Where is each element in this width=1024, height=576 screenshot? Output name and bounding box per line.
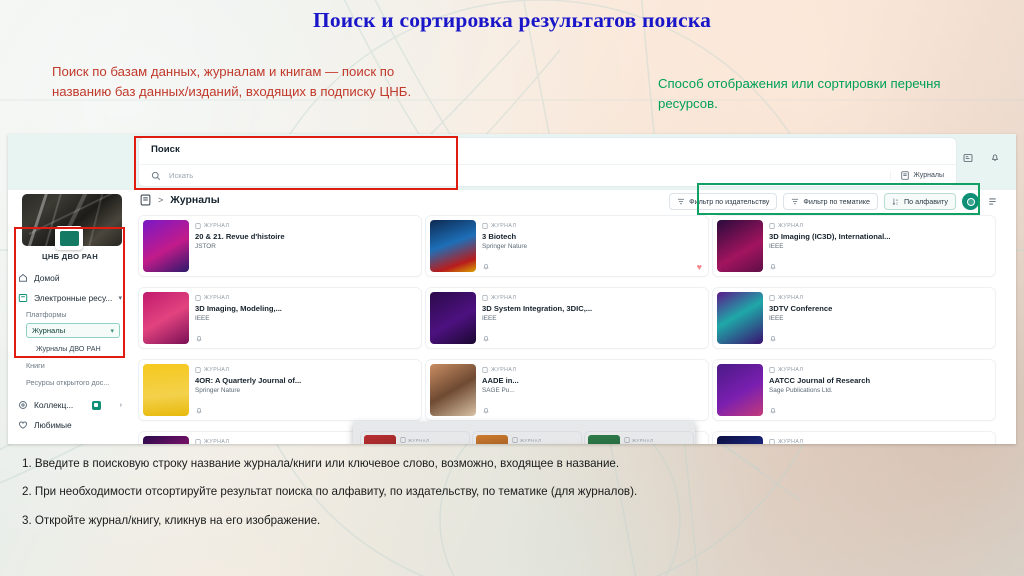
heart-outline-icon	[18, 420, 28, 430]
filter-by-subject-button[interactable]: Фильтр по тематике	[783, 193, 878, 210]
chevron-down-icon: ▾	[118, 294, 122, 302]
journal-title: AADE in...	[482, 376, 704, 385]
journal-cover-image[interactable]	[143, 436, 189, 444]
card-kind: ЖУРНАЛ	[769, 295, 991, 301]
journal-cover-image[interactable]	[717, 436, 763, 444]
search-icon	[151, 171, 161, 181]
journal-icon	[195, 367, 201, 373]
journal-title: AATCC Journal of Research	[769, 376, 991, 385]
card-kind: ЖУРНАЛ	[482, 223, 704, 229]
card-kind: ЖУРНАЛ	[195, 223, 417, 229]
journal-publisher: IEEE	[195, 315, 417, 323]
sort-alphabetical-button[interactable]: AZ По алфавиту	[884, 193, 956, 210]
app-topbar: Поиск Искать Журналы	[8, 134, 1016, 190]
bell-icon[interactable]	[482, 262, 490, 271]
journal-card[interactable]: ЖУРНАЛ4OR: A Quarterly Journal of...Spri…	[139, 360, 421, 420]
callout-left: Поиск по базам данных, журналам и книгам…	[52, 62, 432, 103]
journal-cover-image[interactable]	[430, 292, 476, 344]
filter-icon	[677, 197, 685, 206]
app-screenshot: Поиск Искать Журналы	[8, 134, 1016, 444]
journal-icon	[482, 295, 488, 301]
journal-card-grid: ЖУРНАЛ20 & 21. Revue d'histoireJSTORЖУРН…	[139, 216, 1008, 444]
journal-icon	[769, 439, 775, 444]
app-sidebar: ЦНБ ДВО РАН Домой Электронные ресу... ▾ …	[8, 190, 132, 444]
journal-publisher: IEEE	[482, 315, 704, 323]
card-kind: ЖУРНАЛ	[769, 439, 991, 444]
filter-by-publisher-button[interactable]: Фильтр по издательству	[669, 193, 777, 210]
bell-icon[interactable]	[482, 334, 490, 343]
breadcrumb: > Журналы	[140, 194, 220, 206]
journal-cover-image[interactable]	[430, 364, 476, 416]
journal-icon[interactable]	[140, 194, 151, 206]
journal-cover-image[interactable]	[717, 364, 763, 416]
step-3: 3. Откройте журнал/книгу, кликнув на его…	[22, 513, 722, 529]
journal-icon	[195, 439, 201, 444]
journal-title: 3D Imaging (IC3D), International...	[769, 232, 991, 241]
grid-view-toggle[interactable]	[962, 193, 979, 210]
sidebar-group-books[interactable]: Книги	[8, 359, 132, 372]
journal-title: 3 Biotech	[482, 232, 704, 241]
journal-title: 3D Imaging, Modeling,...	[195, 304, 417, 313]
journal-title: 4OR: A Quarterly Journal of...	[195, 376, 417, 385]
modal-overlay	[353, 422, 695, 444]
journal-card[interactable]: ЖУРНАЛ3D System Integration, 3DIC,...IEE…	[426, 288, 708, 348]
journal-cover-image[interactable]	[717, 292, 763, 344]
list-view-toggle[interactable]	[985, 194, 1000, 209]
bell-icon[interactable]	[195, 406, 203, 415]
breadcrumb-separator: >	[158, 195, 163, 205]
org-logo-icon	[55, 226, 83, 250]
journal-icon	[769, 295, 775, 301]
sidebar-nav: Домой Электронные ресу... ▾ Платформы Жу…	[8, 268, 132, 435]
sidebar-item-label: Коллекц...	[34, 400, 73, 410]
resources-icon	[18, 293, 28, 303]
journal-icon	[195, 223, 201, 229]
journal-card[interactable]: ЖУРНАЛ3DTV ConferenceIEEE	[713, 288, 995, 348]
step-1: 1. Введите в поисковую строку название ж…	[22, 456, 722, 472]
journal-icon	[769, 223, 775, 229]
journal-card[interactable]: ЖУРНАЛABA Jou...JSTOR	[713, 432, 995, 444]
callout-right: Способ отображения или сортировки перечн…	[658, 74, 988, 115]
sidebar-item-collections[interactable]: Коллекц... ›	[8, 395, 132, 415]
sort-az-icon: AZ	[892, 197, 900, 206]
sidebar-item-label: Домой	[34, 273, 60, 283]
journal-card[interactable]: ЖУРНАЛ3 BiotechSpringer Nature♥	[426, 216, 708, 276]
filter-toolbar: Фильтр по издательству Фильтр по тематик…	[669, 193, 1000, 210]
journal-title: 20 & 21. Revue d'histoire	[195, 232, 417, 241]
sidebar-group-platforms: Платформы	[8, 308, 132, 321]
library-card-icon[interactable]	[960, 150, 975, 165]
chevron-right-icon: ›	[120, 402, 122, 409]
journal-cover-image[interactable]	[717, 220, 763, 272]
journal-publisher: Springer Nature	[195, 387, 417, 395]
favourite-icon[interactable]: ♥	[697, 262, 702, 272]
app-body: ЦНБ ДВО РАН Домой Электронные ресу... ▾ …	[8, 190, 1016, 444]
sidebar-group-open-access[interactable]: Ресурсы открытого дос...	[8, 376, 132, 389]
journal-title: 3D System Integration, 3DIC,...	[482, 304, 704, 313]
bell-icon[interactable]	[482, 406, 490, 415]
instruction-steps: 1. Введите в поисковую строку название ж…	[22, 456, 722, 541]
card-kind: ЖУРНАЛ	[195, 367, 417, 373]
page-title: Поиск и сортировка результатов поиска	[0, 8, 1024, 33]
bell-icon[interactable]	[769, 406, 777, 415]
card-kind: ЖУРНАЛ	[769, 223, 991, 229]
sidebar-item-journals-dvo-ran[interactable]: Журналы ДВО РАН	[8, 342, 132, 355]
search-input[interactable]: Искать	[169, 171, 193, 180]
sidebar-item-electronic-resources[interactable]: Электронные ресу... ▾	[8, 288, 132, 308]
sort-label: По алфавиту	[904, 197, 948, 206]
bell-icon[interactable]	[195, 334, 203, 343]
sidebar-item-label: Электронные ресу...	[34, 293, 112, 303]
journal-icon	[482, 367, 488, 373]
home-icon	[18, 273, 28, 283]
bell-icon[interactable]	[769, 262, 777, 271]
journal-publisher: IEEE	[769, 315, 991, 323]
journal-cover-image[interactable]	[143, 292, 189, 344]
journal-publisher: Sage Publications Ltd.	[769, 387, 991, 395]
bell-icon[interactable]	[769, 334, 777, 343]
journal-card[interactable]: ЖУРНАЛ3D Imaging, Modeling,...IEEE	[139, 288, 421, 348]
sidebar-item-label: Любимые	[34, 420, 72, 430]
step-2: 2. При необходимости отсортируйте резуль…	[22, 484, 722, 500]
card-kind: ЖУРНАЛ	[482, 367, 704, 373]
card-kind: ЖУРНАЛ	[769, 367, 991, 373]
journal-publisher: IEEE	[769, 243, 991, 251]
journal-publisher: JSTOR	[195, 243, 417, 251]
journal-icon	[195, 295, 201, 301]
bell-icon[interactable]	[987, 150, 1002, 165]
collections-badge	[92, 401, 101, 410]
search-scope-chip[interactable]: Журналы	[890, 171, 944, 180]
journal-cover-image[interactable]	[143, 220, 189, 272]
breadcrumb-current: Журналы	[170, 194, 219, 206]
collections-icon	[18, 400, 28, 410]
sidebar-item-home[interactable]: Домой	[8, 268, 132, 288]
filter-label: Фильтр по издательству	[689, 197, 769, 206]
platform-select[interactable]: Журналы ▾	[26, 323, 120, 338]
journal-publisher: SAGE Pu...	[482, 387, 704, 395]
filter-icon	[791, 197, 799, 206]
journal-card[interactable]: ЖУРНАЛ20 & 21. Revue d'histoireJSTOR	[139, 216, 421, 276]
search-panel-label: Поиск	[151, 144, 180, 155]
chevron-down-icon: ▾	[110, 327, 114, 335]
journal-icon	[901, 171, 909, 180]
svg-text:Z: Z	[896, 202, 898, 206]
journal-cover-image[interactable]	[430, 220, 476, 272]
platform-select-value: Журналы	[32, 326, 65, 335]
journal-icon	[769, 367, 775, 373]
filter-label: Фильтр по тематике	[803, 197, 870, 206]
nested-screenshot: ЖУРНАЛAmerican Jo... Transplanta...Wiley…	[353, 422, 695, 444]
journal-card[interactable]: ЖУРНАЛ3D Imaging (IC3D), International..…	[713, 216, 995, 276]
journal-cover-image[interactable]	[143, 364, 189, 416]
journal-publisher: Springer Nature	[482, 243, 704, 251]
org-name: ЦНБ ДВО РАН	[8, 252, 132, 261]
card-kind: ЖУРНАЛ	[195, 295, 417, 301]
search-scope-label: Журналы	[913, 172, 944, 179]
journal-icon	[482, 223, 488, 229]
journal-title: 3DTV Conference	[769, 304, 991, 313]
card-kind: ЖУРНАЛ	[482, 295, 704, 301]
sidebar-item-favourites[interactable]: Любимые	[8, 415, 132, 435]
journal-card[interactable]: ЖУРНАЛAATCC Journal of ResearchSage Publ…	[713, 360, 995, 420]
journal-card[interactable]: ЖУРНАЛAADE in...SAGE Pu...	[426, 360, 708, 420]
